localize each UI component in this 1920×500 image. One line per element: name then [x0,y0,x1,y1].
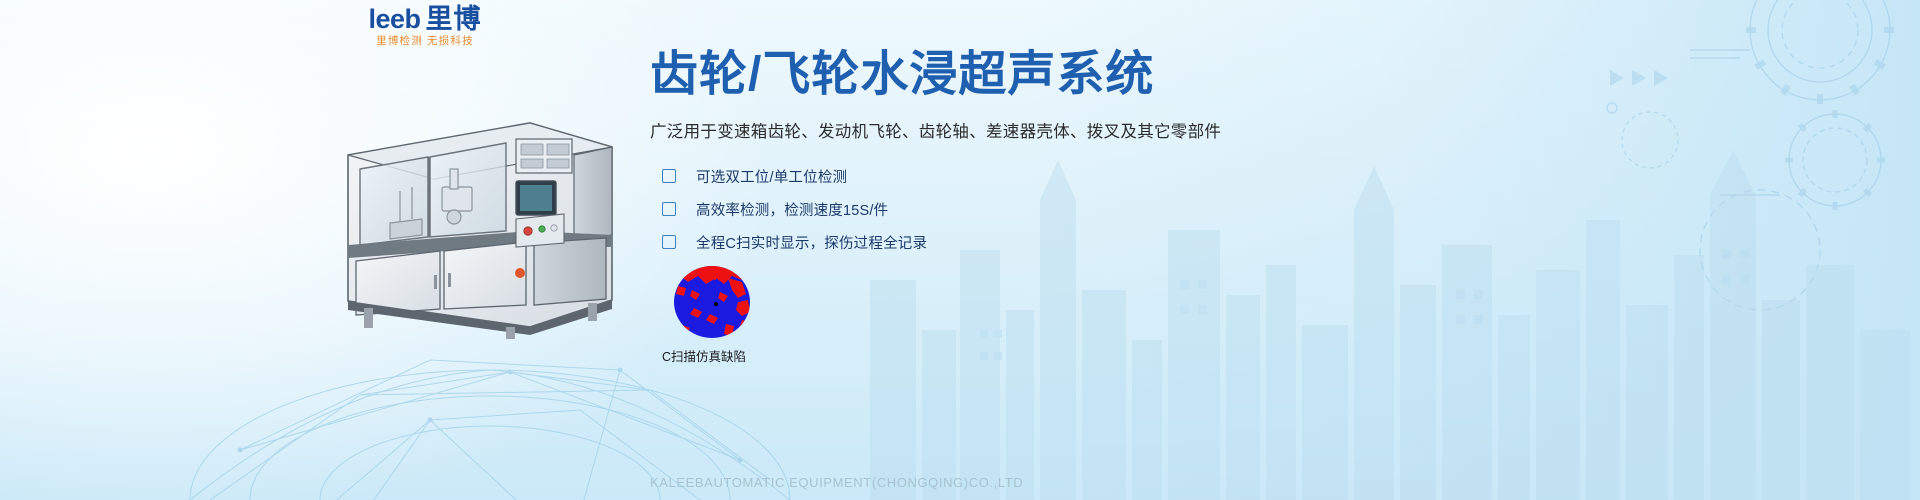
feature-list: 可选双工位/单工位检测 高效率检测，检测速度15S/件 全程C扫实时显示，探伤过… [650,160,1250,259]
center-marker-icon [714,302,718,306]
checkbox-icon[interactable] [662,235,676,249]
company-logo[interactable]: leeb里博 里博检测 无损科技 [340,6,510,47]
cscan-sample: C扫描仿真缺陷 [672,264,758,365]
logo-wordmark: leeb里博 [340,6,510,33]
cscan-image [672,264,752,340]
hero-banner: leeb里博 里博检测 无损科技 [0,0,1920,500]
list-item: 全程C扫实时显示，探伤过程全记录 [650,226,1250,259]
list-item: 高效率检测，检测速度15S/件 [650,193,1250,226]
logo-tagline: 里博检测 无损科技 [340,36,510,47]
feature-label: 高效率检测，检测速度15S/件 [696,199,888,220]
list-item: 可选双工位/单工位检测 [650,160,1250,193]
feature-label: 可选双工位/单工位检测 [696,166,847,187]
checkbox-icon[interactable] [662,202,676,216]
cscan-caption: C扫描仿真缺陷 [662,346,758,365]
logo-latin-text: leeb [368,4,420,34]
hero-subtitle: 广泛用于变速箱齿轮、发动机飞轮、齿轮轴、差速器壳体、拨叉及其它零部件 [650,118,1250,142]
hero-copy: 齿轮/飞轮水浸超声系统 广泛用于变速箱齿轮、发动机飞轮、齿轮轴、差速器壳体、拨叉… [650,48,1250,259]
feature-label: 全程C扫实时显示，探伤过程全记录 [696,232,927,253]
footer-company-name: KALEEBAUTOMATIC EQUIPMENT(CHONGQING)CO.,… [650,475,1023,490]
checkbox-icon[interactable] [662,169,676,183]
product-photo [330,95,620,340]
page-title: 齿轮/飞轮水浸超声系统 [650,48,1250,102]
logo-chinese-text: 里博 [426,4,482,34]
